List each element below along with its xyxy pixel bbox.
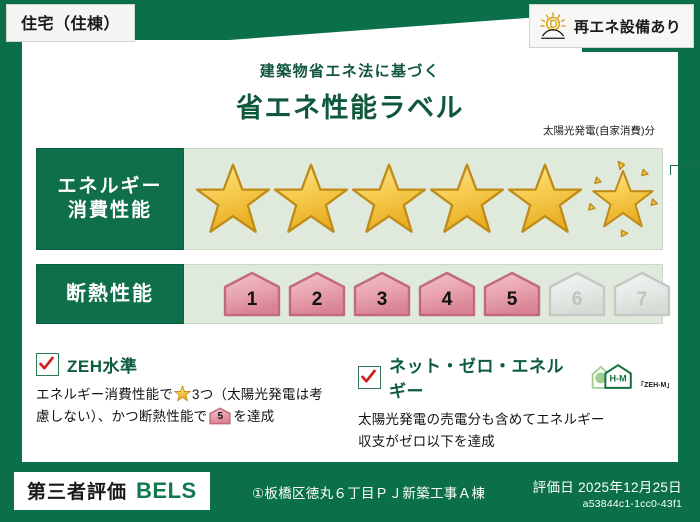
criteria-zeh-header: ZEH水準 xyxy=(36,352,336,377)
zeh-m-logo: H-M 「ZEH-M」 xyxy=(589,362,670,392)
criteria-net-zero-title: ネット・ゼロ・エネルギー xyxy=(389,352,580,402)
insulation-row-grades-panel: 1 2 3 4 xyxy=(184,264,663,324)
label-title-block: 建築物省エネ法に基づく 省エネ性能ラベル xyxy=(0,60,700,125)
criteria-net-zero-header: ネット・ゼロ・エネルギー H-M 「ZEH-M」 xyxy=(358,352,670,402)
insulation-grade-6-value: 6 xyxy=(547,289,607,311)
evaluation-meta: 評価日 2025年12月25日 a53844c1-1cc0-43f1 xyxy=(533,476,682,510)
insulation-grade-4: 4 xyxy=(417,271,477,317)
star-filled-2 xyxy=(272,160,350,238)
insulation-grade-3: 3 xyxy=(352,271,412,317)
insulation-performance-row: 断熱性能 xyxy=(36,264,663,324)
energy-row-stars-panel: 太陽光発電(自家消費)分 xyxy=(184,148,663,250)
criteria-net-zero-body: 太陽光発電の売電分も含めてエネルギー 収支がゼロ以下を達成 xyxy=(358,409,670,453)
star-filled-4 xyxy=(428,160,506,238)
insulation-grade-7-value: 7 xyxy=(612,289,672,311)
insulation-grade-5-value: 5 xyxy=(482,289,542,311)
insulation-grade-6: 6 xyxy=(547,271,607,317)
criteria-net-zero-text-a: 太陽光発電の売電分も含めてエネルギー xyxy=(358,409,670,431)
energy-row-label: エネルギー 消費性能 xyxy=(36,148,184,250)
building-type-chip: 住宅（住棟） xyxy=(6,4,135,42)
criteria-zeh-text-b: 3つ（太陽光発電 xyxy=(192,387,296,402)
insulation-grade-7: 7 xyxy=(612,271,672,317)
star-filled-5 xyxy=(506,160,584,238)
svg-text:H-M: H-M xyxy=(609,374,626,384)
renewable-badge-label: 再エネ設備あり xyxy=(574,16,681,37)
solar-bracket xyxy=(670,165,700,175)
insulation-grade-2-value: 2 xyxy=(287,289,347,311)
insulation-grade-2: 2 xyxy=(287,271,347,317)
insulation-grade-inline-icon: 5 xyxy=(209,407,231,425)
insulation-grade-1-value: 1 xyxy=(222,289,282,311)
criteria-zeh-body: エネルギー消費性能で3つ（太陽光発電は考慮しない）、かつ断熱性能で5を達成 xyxy=(36,384,336,428)
checkbox-checked-icon xyxy=(36,353,59,376)
insulation-row-label: 断熱性能 xyxy=(36,264,184,324)
criteria-zeh-text-d: を達成 xyxy=(233,409,274,424)
insulation-grade-inline-value: 5 xyxy=(209,409,231,425)
insulation-grade-3-value: 3 xyxy=(352,289,412,311)
property-address: ①板橋区徳丸６丁目ＰＪ新築工事Ａ棟 xyxy=(252,482,485,502)
title-subtitle: 建築物省エネ法に基づく xyxy=(0,60,700,81)
criteria-net-zero: ネット・ゼロ・エネルギー H-M 「ZEH-M」 太陽光発電の売電分も含めてエネ… xyxy=(358,352,670,453)
checkbox-checked-icon xyxy=(358,366,381,389)
third-party-evaluation-label: 第三者評価 xyxy=(27,477,127,504)
criteria-zeh-text-a: エネルギー消費性能で xyxy=(36,387,173,402)
criteria-zeh-title: ZEH水準 xyxy=(67,352,138,377)
star-icon xyxy=(174,385,191,402)
star-filled-3 xyxy=(350,160,428,238)
star-solar-dashed-6 xyxy=(584,160,662,238)
evaluation-date: 評価日 2025年12月25日 xyxy=(533,476,682,496)
star-rating-group: 太陽光発電(自家消費)分 xyxy=(184,149,662,249)
header-white-fill xyxy=(22,40,582,54)
zeh-m-house-icon: H-M xyxy=(589,362,636,392)
insulation-grade-1: 1 xyxy=(222,271,282,317)
criteria-zeh: ZEH水準 エネルギー消費性能で3つ（太陽光発電は考慮しない）、かつ断熱性能で5… xyxy=(36,352,336,428)
bels-brand-label: BELS xyxy=(136,478,197,504)
third-party-evaluation-chip: 第三者評価 BELS xyxy=(14,472,210,510)
insulation-grade-4-value: 4 xyxy=(417,289,477,311)
zeh-m-caption: 「ZEH-M」 xyxy=(637,380,670,390)
insulation-grade-group: 1 2 3 4 xyxy=(184,265,662,323)
energy-label-line1: エネルギー xyxy=(57,175,162,199)
criteria-net-zero-text-b: 収支がゼロ以下を達成 xyxy=(358,431,670,453)
insulation-grade-5: 5 xyxy=(482,271,542,317)
solar-note-label: 太陽光発電(自家消費)分 xyxy=(534,123,664,138)
evaluation-id: a53844c1-1cc0-43f1 xyxy=(533,498,682,510)
renewable-energy-badge: 再エネ設備あり xyxy=(529,4,694,48)
energy-performance-row: エネルギー 消費性能 xyxy=(36,148,663,250)
star-filled-1 xyxy=(194,160,272,238)
title-main: 省エネ性能ラベル xyxy=(0,86,700,125)
energy-label-line2: 消費性能 xyxy=(68,199,152,223)
energy-label-card: 住宅（住棟） 再エネ設備あり 建築物省エ xyxy=(0,0,700,522)
sun-renewable-icon xyxy=(539,12,567,40)
